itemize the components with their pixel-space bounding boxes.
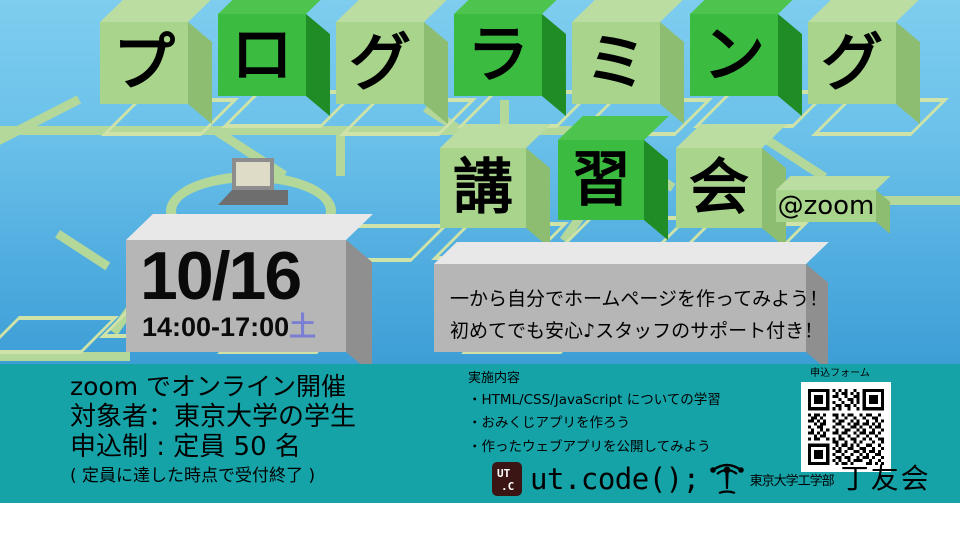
curriculum-item: ・おみくじアプリを作ろう (468, 412, 721, 436)
cube-face: グ (336, 22, 424, 104)
box-face: 10/16 14:00-17:00土 (126, 240, 346, 352)
title-cube-2: ロ (218, 14, 306, 96)
cube-top (218, 0, 331, 14)
cube-face: ン (690, 14, 778, 96)
event-details-left: zoom でオンライン開催 対象者：東京大学の学生 申込制 : 定員 50 名 … (70, 372, 356, 487)
slab-top (776, 176, 890, 190)
event-time: 14:00-17:00土 (142, 314, 316, 341)
box-side (346, 240, 372, 364)
title-cube-4: ラ (454, 14, 542, 96)
event-details-right: 実施内容 ・HTML/CSS/JavaScript についての学習 ・おみくじア… (468, 370, 721, 460)
laptop-screen (232, 158, 274, 190)
description-box: 一から自分でホームページを作ってみよう！ 初めてでも安心♪スタッフのサポート付き… (434, 264, 806, 352)
utcode-mark-bottom: .C (501, 481, 514, 492)
cube-face: プ (100, 22, 188, 104)
cube-top (808, 0, 921, 22)
cube-face: グ (808, 22, 896, 104)
detail-platform: zoom でオンライン開催 (70, 372, 356, 402)
qr-label: 申込フォーム (795, 368, 885, 380)
event-date: 10/16 (140, 242, 300, 310)
title-cube-3: グ (336, 22, 424, 104)
event-time-range: 14:00-17:00 (142, 312, 289, 342)
utcode-mark-icon: UT .C (492, 462, 522, 496)
zoom-platform-slab: @zoom (776, 190, 876, 222)
title-cube-5: ミ (572, 22, 660, 104)
cube-top (454, 0, 567, 14)
subtitle-cube-2: 習 (558, 140, 644, 220)
curriculum-heading: 実施内容 (468, 370, 721, 389)
cube-top (572, 0, 685, 22)
title-cube-7: グ (808, 22, 896, 104)
subtitle-cube-1: 講 (440, 148, 526, 228)
cube-face: ロ (218, 14, 306, 96)
cube-top (336, 0, 449, 22)
utcode-mark-top: UT (497, 468, 510, 479)
chouyukai-university: 東京大学工学部 (750, 470, 834, 489)
laptop-keyboard (218, 190, 288, 205)
chouyukai-name: 丁友会 (841, 465, 931, 493)
cube-face: 習 (558, 140, 644, 220)
qr-code-svg (808, 389, 884, 465)
box-side (806, 264, 828, 364)
box-face: 一から自分でホームページを作ってみよう！ 初めてでも安心♪スタッフのサポート付き… (434, 264, 806, 352)
description-line-1: 一から自分でホームページを作ってみよう！ (450, 284, 828, 311)
event-weekday: 土 (289, 312, 316, 342)
sky-background: プ ロ グ ラ ミ ン グ (0, 0, 960, 364)
date-box: 10/16 14:00-17:00土 (126, 240, 346, 352)
cube-top (690, 0, 803, 14)
subtitle-cube-3: 会 (676, 148, 762, 228)
chouyukai-person-icon (710, 461, 744, 497)
laptop-icon (218, 158, 288, 208)
box-top (126, 214, 373, 240)
box-top (434, 242, 829, 264)
title-cube-1: プ (100, 22, 188, 104)
detail-capacity-note: ( 定員に達した時点で受付終了 ) (70, 465, 356, 487)
slab-face: @zoom (776, 190, 876, 222)
description-line-2: 初めてでも安心♪スタッフのサポート付き！ (450, 316, 823, 343)
poster-root: プ ロ グ ラ ミ ン グ (0, 0, 960, 540)
cube-top (100, 0, 213, 22)
circuit-trace (55, 230, 110, 270)
cube-face: 会 (676, 148, 762, 228)
detail-capacity: 申込制 : 定員 50 名 (70, 432, 356, 463)
registration-qr-block[interactable]: 申込フォーム (795, 368, 891, 472)
detail-audience: 対象者：東京大学の学生 (70, 402, 356, 433)
title-cube-6: ン (690, 14, 778, 96)
curriculum-item: ・作ったウェブアプリを公開してみよう (468, 436, 721, 460)
organizer-logo-row: UT .C ut.code(); 東京大学工学部 丁友会 (492, 459, 931, 499)
utcode-wordmark: ut.code(); (530, 465, 700, 494)
cube-top (558, 116, 669, 140)
cube-face: ミ (572, 22, 660, 104)
cube-face: ラ (454, 14, 542, 96)
curriculum-item: ・HTML/CSS/JavaScript についての学習 (468, 389, 721, 413)
cube-face: 講 (440, 148, 526, 228)
